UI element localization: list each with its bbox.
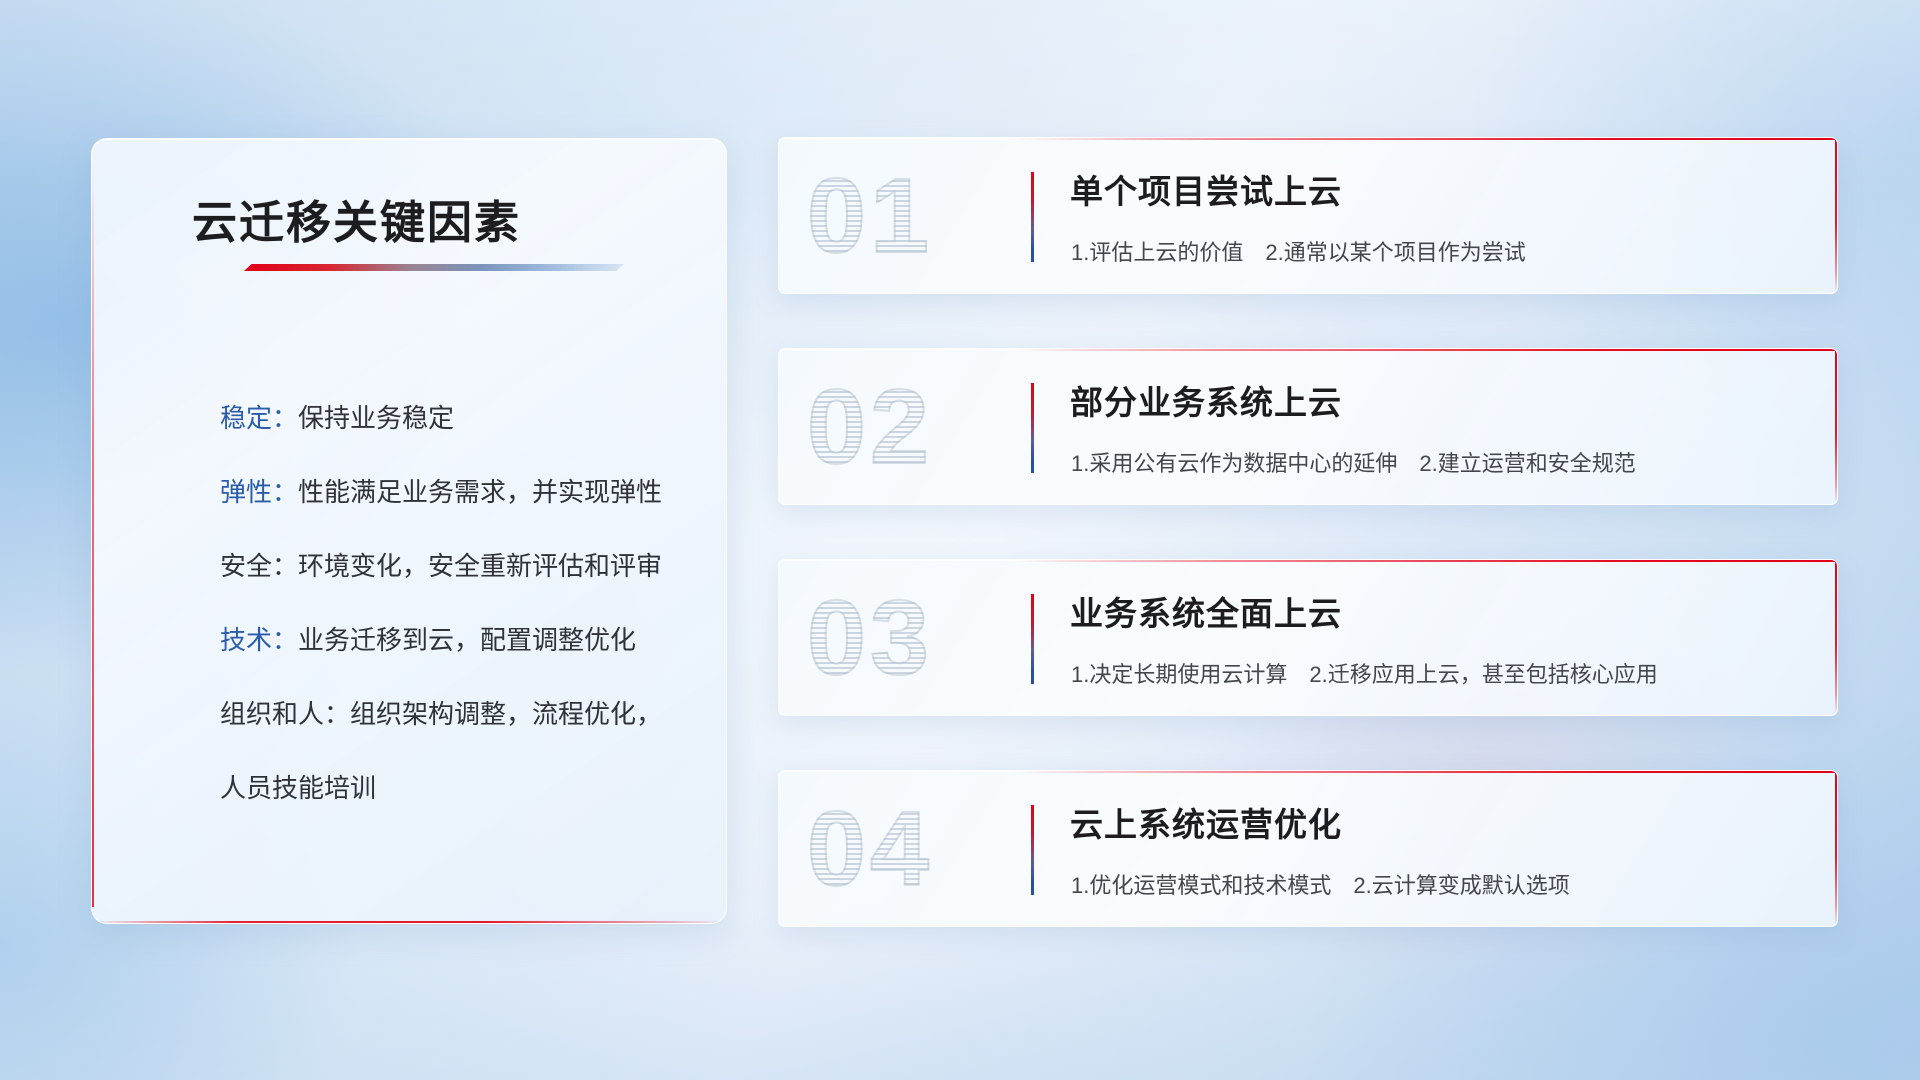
step-divider-bar (1031, 594, 1034, 684)
step-card-01[interactable]: 01 单个项目尝试上云 1.评估上云的价值 2.通常以某个项目作为尝试 (778, 137, 1838, 294)
step-divider-bar (1031, 805, 1034, 895)
list-item: 稳定：保持业务稳定 (220, 381, 700, 455)
step-card-02[interactable]: 02 部分业务系统上云 1.采用公有云作为数据中心的延伸 2.建立运营和安全规范 (778, 348, 1838, 505)
slide-stage: 云迁移关键因素 稳定：保持业务稳定 弹性：性能满足业务需求，并实现弹性 安全：环… (0, 0, 1920, 1080)
step-number-watermark: 03 (807, 572, 933, 704)
step-title: 业务系统全面上云 (1070, 587, 1342, 635)
step-subtitle: 1.优化运营模式和技术模式 2.云计算变成默认选项 (1071, 868, 1570, 900)
factor-label: 技术： (220, 625, 298, 655)
factor-list: 稳定：保持业务稳定 弹性：性能满足业务需求，并实现弹性 安全：环境变化，安全重新… (220, 381, 700, 825)
factor-text: 环境变化，安全重新评估和评审 (298, 551, 662, 581)
factor-text: 业务迁移到云，配置调整优化 (298, 625, 636, 655)
step-number-watermark: 04 (807, 783, 933, 915)
step-card-03[interactable]: 03 业务系统全面上云 1.决定长期使用云计算 2.迁移应用上云，甚至包括核心应… (778, 559, 1838, 716)
list-item: 组织和人：组织架构调整，流程优化， (220, 677, 700, 751)
step-subtitle: 1.决定长期使用云计算 2.迁移应用上云，甚至包括核心应用 (1071, 657, 1658, 689)
step-subtitle: 1.采用公有云作为数据中心的延伸 2.建立运营和安全规范 (1071, 446, 1636, 478)
step-title: 单个项目尝试上云 (1070, 165, 1342, 213)
factor-label: 组织和人： (220, 699, 350, 729)
factor-text: 性能满足业务需求，并实现弹性 (298, 477, 662, 507)
step-number-watermark: 02 (807, 361, 933, 493)
factor-text: 保持业务稳定 (298, 403, 454, 433)
step-subtitle: 1.评估上云的价值 2.通常以某个项目作为尝试 (1071, 235, 1526, 267)
list-item: 技术：业务迁移到云，配置调整优化 (220, 603, 700, 677)
key-factors-card: 云迁移关键因素 稳定：保持业务稳定 弹性：性能满足业务需求，并实现弹性 安全：环… (91, 138, 727, 924)
list-item: 弹性：性能满足业务需求，并实现弹性 (220, 455, 700, 529)
step-divider-bar (1031, 172, 1034, 262)
factor-label: 稳定： (220, 403, 298, 433)
step-number-watermark: 01 (807, 150, 933, 282)
factor-text: 组织架构调整，流程优化， (350, 699, 662, 729)
factor-label: 弹性： (220, 477, 298, 507)
title-underline-rule (244, 264, 624, 271)
step-divider-bar (1031, 383, 1034, 473)
step-title: 云上系统运营优化 (1070, 798, 1342, 846)
step-title: 部分业务系统上云 (1070, 376, 1342, 424)
page-title: 云迁移关键因素 (192, 186, 521, 251)
migration-steps-list: 01 单个项目尝试上云 1.评估上云的价值 2.通常以某个项目作为尝试 02 部… (778, 137, 1838, 981)
factor-label: 安全： (220, 551, 298, 581)
factor-text-continuation: 人员技能培训 (220, 751, 700, 825)
list-item: 安全：环境变化，安全重新评估和评审 (220, 529, 700, 603)
step-card-04[interactable]: 04 云上系统运营优化 1.优化运营模式和技术模式 2.云计算变成默认选项 (778, 770, 1838, 927)
